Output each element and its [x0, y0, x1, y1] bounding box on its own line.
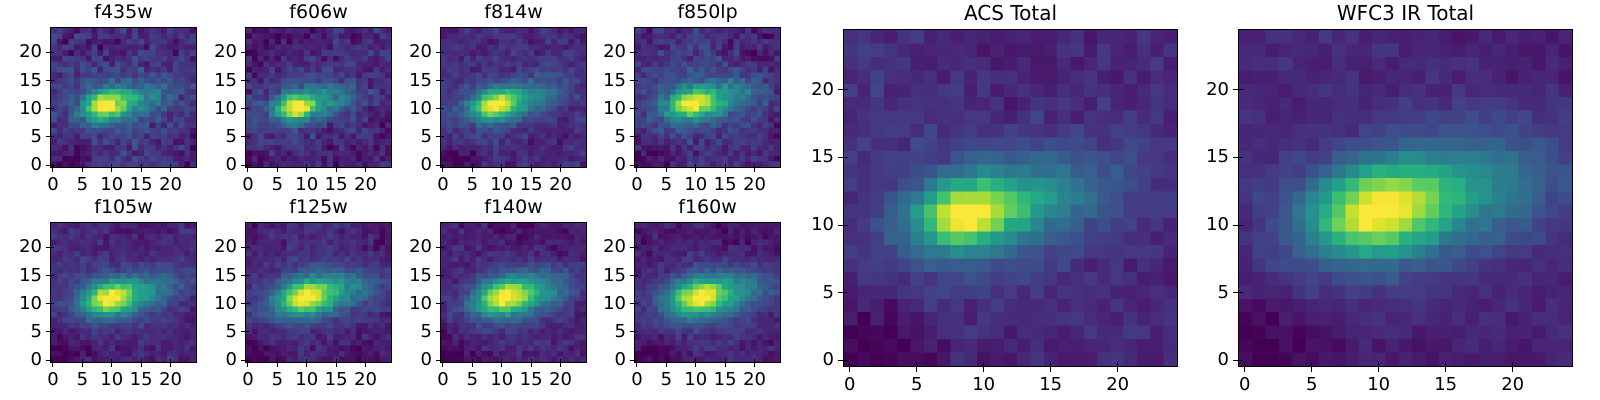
x-tick-f105w-1 — [82, 363, 83, 367]
x-tick-label-f606w-0: 0 — [242, 176, 253, 194]
y-tick-label-wfc3_ir_total-4: 20 — [1206, 81, 1229, 99]
x-tick-label-f125w-0: 0 — [242, 371, 253, 389]
y-tick-label-wfc3_ir_total-3: 15 — [1206, 148, 1229, 166]
axes-f125w — [245, 222, 392, 363]
x-tick-label-f125w-2: 10 — [295, 371, 318, 389]
x-tick-label-f160w-3: 15 — [714, 371, 737, 389]
y-tick-label-f105w-4: 20 — [19, 238, 42, 256]
y-tick-label-acs_total-4: 20 — [811, 81, 834, 99]
y-tick-label-wfc3_ir_total-0: 0 — [1218, 351, 1229, 369]
y-tick-inner-f105w-3 — [50, 275, 54, 276]
y-tick-label-f435w-2: 10 — [19, 100, 42, 118]
y-tick-label-f435w-3: 15 — [19, 72, 42, 90]
x-tick-f850lp-0 — [636, 168, 637, 172]
panel-f105w: f105w0510152005101520 — [50, 222, 197, 363]
y-tick-label-f850lp-0: 0 — [615, 156, 626, 174]
x-tick-f125w-2 — [306, 363, 307, 367]
x-tick-inner-f160w-2 — [695, 359, 696, 363]
x-tick-label-f814w-4: 20 — [549, 176, 572, 194]
y-tick-label-wfc3_ir_total-1: 5 — [1218, 284, 1229, 302]
y-tick-label-f850lp-2: 10 — [603, 100, 626, 118]
y-tick-label-f606w-0: 0 — [226, 156, 237, 174]
y-tick-inner-acs_total-1 — [843, 292, 848, 293]
y-tick-label-f435w-1: 5 — [31, 128, 42, 146]
x-tick-inner-f850lp-1 — [666, 164, 667, 168]
x-tick-acs_total-3 — [1050, 367, 1051, 372]
panel-title-f125w: f125w — [245, 198, 392, 217]
y-tick-label-f814w-1: 5 — [421, 128, 432, 146]
x-tick-f814w-0 — [442, 168, 443, 172]
y-tick-label-f814w-4: 20 — [409, 43, 432, 61]
x-tick-f606w-2 — [306, 168, 307, 172]
x-tick-label-f814w-0: 0 — [437, 176, 448, 194]
y-tick-label-f814w-3: 15 — [409, 72, 432, 90]
x-tick-label-wfc3_ir_total-1: 5 — [1306, 376, 1317, 394]
y-tick-label-f435w-0: 0 — [31, 156, 42, 174]
heatmap-image-f814w — [441, 28, 586, 167]
y-tick-inner-wfc3_ir_total-4 — [1238, 89, 1243, 90]
x-tick-label-acs_total-4: 20 — [1106, 376, 1129, 394]
x-tick-f850lp-2 — [695, 168, 696, 172]
x-tick-f105w-0 — [52, 363, 53, 367]
x-tick-label-f160w-2: 10 — [684, 371, 707, 389]
panel-title-f160w: f160w — [634, 198, 781, 217]
panel-f606w: f606w0510152005101520 — [245, 27, 392, 168]
x-tick-inner-f814w-4 — [560, 164, 561, 168]
y-tick-inner-f435w-2 — [50, 108, 54, 109]
x-tick-f606w-4 — [365, 168, 366, 172]
y-tick-label-f606w-1: 5 — [226, 128, 237, 146]
x-tick-wfc3_ir_total-3 — [1445, 367, 1446, 372]
y-tick-label-f125w-4: 20 — [214, 238, 237, 256]
y-tick-label-f160w-4: 20 — [603, 238, 626, 256]
x-tick-inner-f606w-4 — [365, 164, 366, 168]
x-tick-inner-f850lp-2 — [695, 164, 696, 168]
y-tick-label-f814w-2: 10 — [409, 100, 432, 118]
x-tick-wfc3_ir_total-2 — [1378, 367, 1379, 372]
y-tick-inner-acs_total-0 — [843, 360, 848, 361]
x-tick-f850lp-4 — [754, 168, 755, 172]
y-tick-label-f140w-2: 10 — [409, 295, 432, 313]
axes-f850lp — [634, 27, 781, 168]
y-tick-inner-f435w-0 — [50, 165, 54, 166]
panel-title-wfc3_ir_total: WFC3 IR Total — [1238, 3, 1573, 23]
x-tick-label-f140w-1: 5 — [467, 371, 478, 389]
y-tick-label-f140w-1: 5 — [421, 323, 432, 341]
x-tick-inner-f105w-2 — [111, 359, 112, 363]
x-tick-inner-f850lp-4 — [754, 164, 755, 168]
y-tick-inner-f435w-3 — [50, 80, 54, 81]
x-tick-inner-acs_total-1 — [916, 362, 917, 367]
y-tick-label-f814w-0: 0 — [421, 156, 432, 174]
x-tick-inner-acs_total-3 — [1050, 362, 1051, 367]
x-tick-inner-f435w-3 — [141, 164, 142, 168]
x-tick-inner-f105w-3 — [141, 359, 142, 363]
y-tick-label-f125w-1: 5 — [226, 323, 237, 341]
x-tick-label-f435w-4: 20 — [159, 176, 182, 194]
x-tick-f160w-0 — [636, 363, 637, 367]
y-tick-label-acs_total-3: 15 — [811, 148, 834, 166]
x-tick-inner-acs_total-4 — [1117, 362, 1118, 367]
x-tick-f435w-2 — [111, 168, 112, 172]
x-tick-label-f435w-0: 0 — [47, 176, 58, 194]
x-tick-label-f105w-1: 5 — [77, 371, 88, 389]
x-tick-label-f125w-3: 15 — [325, 371, 348, 389]
x-tick-f814w-2 — [501, 168, 502, 172]
x-tick-inner-f105w-1 — [82, 359, 83, 363]
x-tick-label-f850lp-1: 5 — [661, 176, 672, 194]
panel-title-f850lp: f850lp — [634, 3, 781, 22]
y-tick-inner-f125w-2 — [245, 303, 249, 304]
x-tick-label-wfc3_ir_total-2: 10 — [1367, 376, 1390, 394]
x-tick-f606w-0 — [247, 168, 248, 172]
x-tick-f814w-1 — [472, 168, 473, 172]
x-tick-label-f606w-4: 20 — [354, 176, 377, 194]
x-tick-label-f140w-0: 0 — [437, 371, 448, 389]
x-tick-label-f140w-2: 10 — [490, 371, 513, 389]
panel-title-f105w: f105w — [50, 198, 197, 217]
x-tick-inner-f160w-1 — [666, 359, 667, 363]
x-tick-f105w-3 — [141, 363, 142, 367]
y-tick-inner-acs_total-3 — [843, 157, 848, 158]
x-tick-label-f435w-3: 15 — [130, 176, 153, 194]
y-tick-inner-f160w-3 — [634, 275, 638, 276]
y-tick-inner-f814w-2 — [440, 108, 444, 109]
y-tick-label-f125w-2: 10 — [214, 295, 237, 313]
heatmap-image-f140w — [441, 223, 586, 362]
x-tick-label-acs_total-3: 15 — [1039, 376, 1062, 394]
y-tick-inner-f814w-1 — [440, 136, 444, 137]
y-tick-label-f160w-0: 0 — [615, 351, 626, 369]
y-tick-label-f140w-0: 0 — [421, 351, 432, 369]
y-tick-label-f160w-2: 10 — [603, 295, 626, 313]
y-tick-inner-f140w-3 — [440, 275, 444, 276]
x-tick-label-f160w-0: 0 — [631, 371, 642, 389]
x-tick-label-f814w-3: 15 — [520, 176, 543, 194]
y-tick-inner-f140w-1 — [440, 331, 444, 332]
x-tick-inner-f125w-2 — [306, 359, 307, 363]
x-tick-label-f105w-3: 15 — [130, 371, 153, 389]
y-tick-inner-f160w-0 — [634, 360, 638, 361]
x-tick-f606w-3 — [336, 168, 337, 172]
x-tick-label-f606w-2: 10 — [295, 176, 318, 194]
x-tick-label-f435w-2: 10 — [100, 176, 123, 194]
x-tick-inner-f125w-4 — [365, 359, 366, 363]
y-tick-label-acs_total-2: 10 — [811, 216, 834, 234]
heatmap-image-f435w — [51, 28, 196, 167]
axes-f814w — [440, 27, 587, 168]
y-tick-inner-f435w-4 — [50, 52, 54, 53]
y-tick-label-f125w-0: 0 — [226, 351, 237, 369]
x-tick-label-f606w-3: 15 — [325, 176, 348, 194]
x-tick-f140w-1 — [472, 363, 473, 367]
x-tick-label-f850lp-4: 20 — [743, 176, 766, 194]
x-tick-label-f105w-4: 20 — [159, 371, 182, 389]
x-tick-f606w-1 — [277, 168, 278, 172]
y-tick-label-acs_total-0: 0 — [823, 351, 834, 369]
y-tick-label-f105w-1: 5 — [31, 323, 42, 341]
x-tick-label-f850lp-3: 15 — [714, 176, 737, 194]
y-tick-inner-f160w-1 — [634, 331, 638, 332]
x-tick-f140w-4 — [560, 363, 561, 367]
axes-f160w — [634, 222, 781, 363]
x-tick-inner-acs_total-2 — [983, 362, 984, 367]
y-tick-label-f160w-3: 15 — [603, 267, 626, 285]
y-tick-inner-f140w-2 — [440, 303, 444, 304]
y-tick-inner-f125w-4 — [245, 247, 249, 248]
axes-acs_total — [843, 29, 1178, 367]
y-tick-label-f140w-4: 20 — [409, 238, 432, 256]
x-tick-label-acs_total-0: 0 — [844, 376, 855, 394]
x-tick-inner-f105w-4 — [170, 359, 171, 363]
y-tick-label-f105w-2: 10 — [19, 295, 42, 313]
y-tick-inner-f606w-4 — [245, 52, 249, 53]
y-tick-label-f606w-4: 20 — [214, 43, 237, 61]
x-tick-wfc3_ir_total-1 — [1311, 367, 1312, 372]
x-tick-label-wfc3_ir_total-4: 20 — [1501, 376, 1524, 394]
x-tick-label-f160w-1: 5 — [661, 371, 672, 389]
heatmap-image-f850lp — [635, 28, 780, 167]
x-tick-inner-f814w-3 — [531, 164, 532, 168]
x-tick-label-f850lp-2: 10 — [684, 176, 707, 194]
x-tick-inner-f606w-3 — [336, 164, 337, 168]
y-tick-label-f160w-1: 5 — [615, 323, 626, 341]
y-tick-label-f105w-0: 0 — [31, 351, 42, 369]
x-tick-f160w-1 — [666, 363, 667, 367]
x-tick-acs_total-1 — [916, 367, 917, 372]
x-tick-f125w-1 — [277, 363, 278, 367]
y-tick-label-f105w-3: 15 — [19, 267, 42, 285]
y-tick-inner-f606w-1 — [245, 136, 249, 137]
x-tick-inner-wfc3_ir_total-2 — [1378, 362, 1379, 367]
x-tick-label-f125w-4: 20 — [354, 371, 377, 389]
x-tick-inner-f140w-4 — [560, 359, 561, 363]
panel-f140w: f140w0510152005101520 — [440, 222, 587, 363]
x-tick-f160w-4 — [754, 363, 755, 367]
y-tick-inner-f814w-0 — [440, 165, 444, 166]
x-tick-f435w-1 — [82, 168, 83, 172]
panel-title-f140w: f140w — [440, 198, 587, 217]
y-tick-inner-f606w-2 — [245, 108, 249, 109]
x-tick-inner-wfc3_ir_total-0 — [1244, 362, 1245, 367]
x-tick-f850lp-1 — [666, 168, 667, 172]
x-tick-inner-f606w-2 — [306, 164, 307, 168]
panel-f435w: f435w0510152005101520 — [50, 27, 197, 168]
y-tick-inner-f606w-0 — [245, 165, 249, 166]
x-tick-inner-acs_total-0 — [849, 362, 850, 367]
panel-f814w: f814w0510152005101520 — [440, 27, 587, 168]
x-tick-label-f606w-1: 5 — [272, 176, 283, 194]
x-tick-inner-f160w-4 — [754, 359, 755, 363]
heatmap-image-f125w — [246, 223, 391, 362]
y-tick-inner-f160w-2 — [634, 303, 638, 304]
panel-f850lp: f850lp0510152005101520 — [634, 27, 781, 168]
y-tick-label-f850lp-1: 5 — [615, 128, 626, 146]
y-tick-inner-f814w-4 — [440, 52, 444, 53]
x-tick-inner-f814w-1 — [472, 164, 473, 168]
x-tick-acs_total-0 — [849, 367, 850, 372]
x-tick-label-f850lp-0: 0 — [631, 176, 642, 194]
x-tick-label-wfc3_ir_total-3: 15 — [1434, 376, 1457, 394]
x-tick-f814w-4 — [560, 168, 561, 172]
panel-title-f435w: f435w — [50, 3, 197, 22]
y-tick-inner-f125w-1 — [245, 331, 249, 332]
x-tick-acs_total-2 — [983, 367, 984, 372]
y-tick-label-f606w-3: 15 — [214, 72, 237, 90]
y-tick-inner-f125w-3 — [245, 275, 249, 276]
y-tick-inner-wfc3_ir_total-1 — [1238, 292, 1243, 293]
axes-f140w — [440, 222, 587, 363]
axes-f105w — [50, 222, 197, 363]
y-tick-inner-f814w-3 — [440, 80, 444, 81]
y-tick-label-f140w-3: 15 — [409, 267, 432, 285]
y-tick-inner-wfc3_ir_total-0 — [1238, 360, 1243, 361]
panel-f125w: f125w0510152005101520 — [245, 222, 392, 363]
panel-acs_total: ACS Total0510152005101520 — [843, 29, 1178, 367]
x-tick-inner-f140w-3 — [531, 359, 532, 363]
x-tick-f105w-2 — [111, 363, 112, 367]
x-tick-f435w-0 — [52, 168, 53, 172]
x-tick-inner-f850lp-3 — [725, 164, 726, 168]
y-tick-inner-f105w-2 — [50, 303, 54, 304]
y-tick-label-f606w-2: 10 — [214, 100, 237, 118]
x-tick-label-f814w-2: 10 — [490, 176, 513, 194]
heatmap-image-f160w — [635, 223, 780, 362]
axes-f435w — [50, 27, 197, 168]
x-tick-inner-wfc3_ir_total-3 — [1445, 362, 1446, 367]
y-tick-inner-f105w-1 — [50, 331, 54, 332]
y-tick-inner-f105w-4 — [50, 247, 54, 248]
x-tick-label-f814w-1: 5 — [467, 176, 478, 194]
y-tick-inner-f850lp-4 — [634, 52, 638, 53]
panel-title-f814w: f814w — [440, 3, 587, 22]
y-tick-inner-f850lp-2 — [634, 108, 638, 109]
x-tick-f160w-3 — [725, 363, 726, 367]
x-tick-inner-f435w-2 — [111, 164, 112, 168]
y-tick-inner-f125w-0 — [245, 360, 249, 361]
y-tick-inner-f850lp-3 — [634, 80, 638, 81]
x-tick-label-acs_total-1: 5 — [911, 376, 922, 394]
x-tick-label-acs_total-2: 10 — [972, 376, 995, 394]
axes-f606w — [245, 27, 392, 168]
y-tick-inner-wfc3_ir_total-2 — [1238, 225, 1243, 226]
x-tick-inner-f435w-1 — [82, 164, 83, 168]
x-tick-f435w-3 — [141, 168, 142, 172]
y-tick-label-wfc3_ir_total-2: 10 — [1206, 216, 1229, 234]
x-tick-f140w-0 — [442, 363, 443, 367]
heatmap-image-wfc3_ir_total — [1239, 30, 1572, 366]
y-tick-inner-acs_total-4 — [843, 89, 848, 90]
x-tick-acs_total-4 — [1117, 367, 1118, 372]
x-tick-inner-f606w-1 — [277, 164, 278, 168]
x-tick-inner-f140w-1 — [472, 359, 473, 363]
x-tick-label-wfc3_ir_total-0: 0 — [1239, 376, 1250, 394]
x-tick-f435w-4 — [170, 168, 171, 172]
y-tick-inner-acs_total-2 — [843, 225, 848, 226]
x-tick-f125w-4 — [365, 363, 366, 367]
y-tick-inner-f160w-4 — [634, 247, 638, 248]
y-tick-inner-f435w-1 — [50, 136, 54, 137]
y-tick-inner-wfc3_ir_total-3 — [1238, 157, 1243, 158]
x-tick-f814w-3 — [531, 168, 532, 172]
y-tick-inner-f140w-4 — [440, 247, 444, 248]
x-tick-f125w-0 — [247, 363, 248, 367]
y-tick-label-f850lp-3: 15 — [603, 72, 626, 90]
x-tick-inner-f814w-2 — [501, 164, 502, 168]
x-tick-f125w-3 — [336, 363, 337, 367]
x-tick-inner-f125w-3 — [336, 359, 337, 363]
x-tick-inner-f435w-4 — [170, 164, 171, 168]
x-tick-f105w-4 — [170, 363, 171, 367]
x-tick-label-f140w-4: 20 — [549, 371, 572, 389]
y-tick-label-f435w-4: 20 — [19, 43, 42, 61]
y-tick-inner-f105w-0 — [50, 360, 54, 361]
y-tick-inner-f850lp-0 — [634, 165, 638, 166]
x-tick-label-f125w-1: 5 — [272, 371, 283, 389]
axes-wfc3_ir_total — [1238, 29, 1573, 367]
x-tick-label-f140w-3: 15 — [520, 371, 543, 389]
y-tick-label-acs_total-1: 5 — [823, 284, 834, 302]
y-tick-label-f125w-3: 15 — [214, 267, 237, 285]
x-tick-f140w-3 — [531, 363, 532, 367]
figure-canvas: f435w0510152005101520f606w05101520051015… — [0, 0, 1600, 400]
x-tick-inner-f140w-2 — [501, 359, 502, 363]
panel-title-acs_total: ACS Total — [843, 3, 1178, 23]
x-tick-inner-wfc3_ir_total-1 — [1311, 362, 1312, 367]
panel-wfc3_ir_total: WFC3 IR Total0510152005101520 — [1238, 29, 1573, 367]
heatmap-image-f606w — [246, 28, 391, 167]
x-tick-inner-f160w-3 — [725, 359, 726, 363]
x-tick-f160w-2 — [695, 363, 696, 367]
x-tick-inner-f125w-1 — [277, 359, 278, 363]
x-tick-label-f160w-4: 20 — [743, 371, 766, 389]
x-tick-label-f105w-2: 10 — [100, 371, 123, 389]
x-tick-wfc3_ir_total-4 — [1512, 367, 1513, 372]
x-tick-f850lp-3 — [725, 168, 726, 172]
x-tick-wfc3_ir_total-0 — [1244, 367, 1245, 372]
y-tick-label-f850lp-4: 20 — [603, 43, 626, 61]
x-tick-label-f435w-1: 5 — [77, 176, 88, 194]
panel-title-f606w: f606w — [245, 3, 392, 22]
y-tick-inner-f850lp-1 — [634, 136, 638, 137]
panel-f160w: f160w0510152005101520 — [634, 222, 781, 363]
x-tick-label-f105w-0: 0 — [47, 371, 58, 389]
heatmap-image-acs_total — [844, 30, 1177, 366]
y-tick-inner-f606w-3 — [245, 80, 249, 81]
x-tick-f140w-2 — [501, 363, 502, 367]
x-tick-inner-wfc3_ir_total-4 — [1512, 362, 1513, 367]
heatmap-image-f105w — [51, 223, 196, 362]
y-tick-inner-f140w-0 — [440, 360, 444, 361]
